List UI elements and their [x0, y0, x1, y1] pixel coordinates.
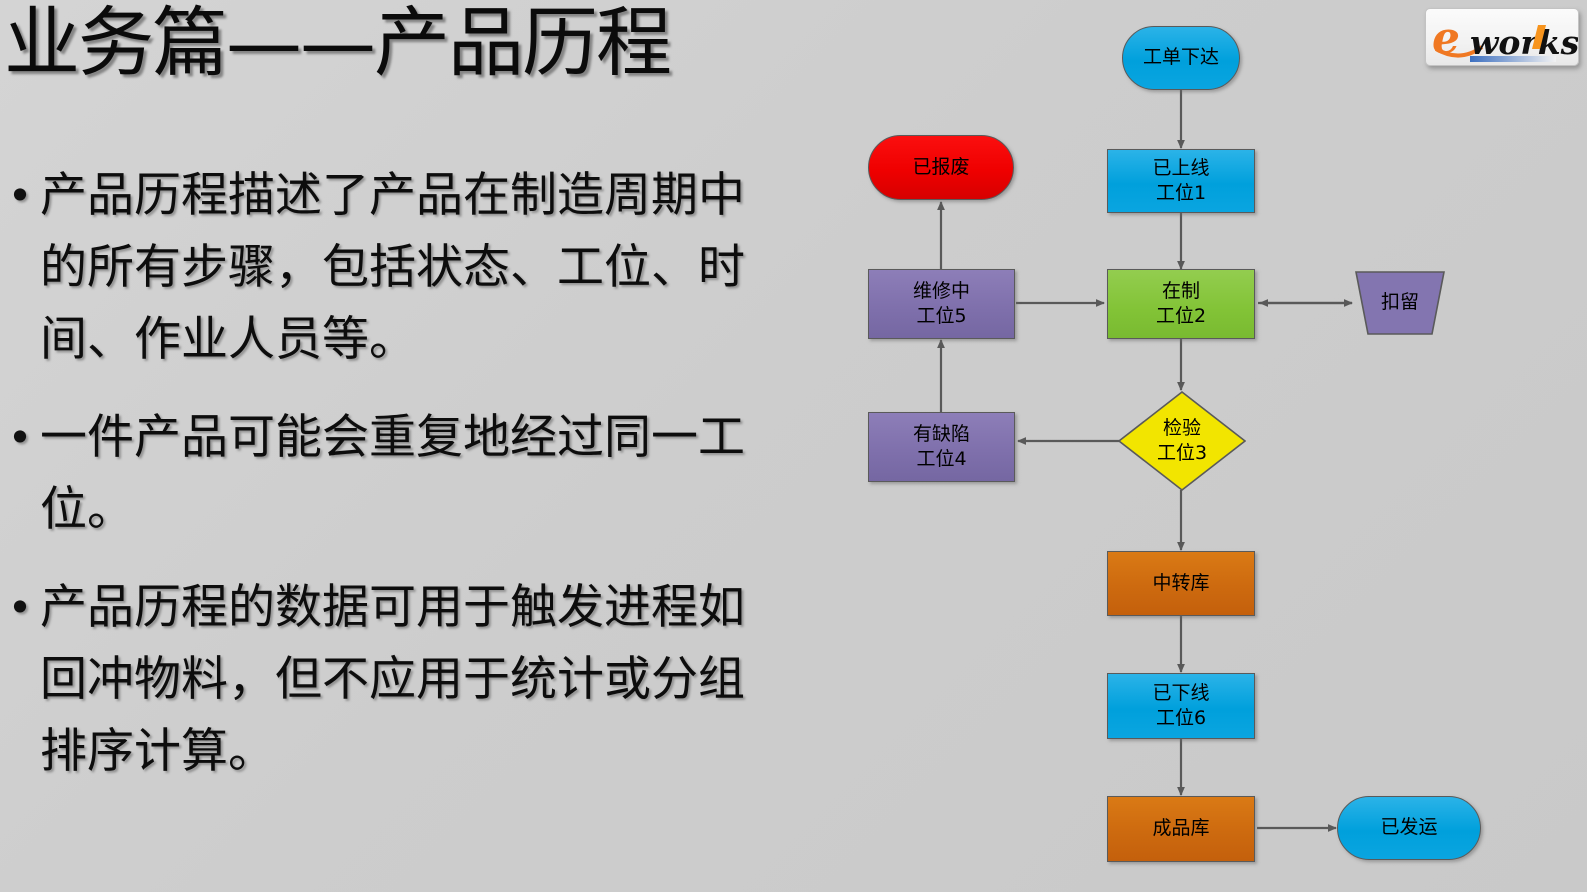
node-label-line2: 工位1	[1156, 181, 1206, 206]
eworks-logo-icon: e works	[1426, 9, 1578, 65]
node-label-line2: 工位4	[916, 447, 966, 472]
node-offline-station6[interactable]: 已下线 工位6	[1107, 673, 1255, 739]
node-repairing-station5[interactable]: 维修中 工位5	[868, 269, 1015, 339]
eworks-logo: e works	[1425, 8, 1579, 66]
node-label-line1: 维修中	[913, 279, 970, 304]
bullet-point-icon: •	[0, 572, 40, 644]
node-hold[interactable]: 扣留	[1352, 270, 1448, 336]
node-online-station1[interactable]: 已上线 工位1	[1107, 149, 1255, 213]
node-label-line1: 已发运	[1380, 815, 1437, 840]
node-label-line1: 成品库	[1152, 816, 1209, 841]
node-label-line1: 有缺陷	[913, 422, 970, 447]
node-work-order-release[interactable]: 工单下达	[1122, 26, 1240, 90]
list-item: • 产品历程的数据可用于触发进程如回冲物料，但不应用于统计或分组排序计算。	[0, 572, 800, 788]
node-inspection-station3[interactable]: 检验 工位3	[1118, 391, 1246, 491]
node-transit-warehouse[interactable]: 中转库	[1107, 551, 1255, 616]
node-label-line2: 工位6	[1156, 706, 1206, 731]
node-shipped[interactable]: 已发运	[1337, 796, 1481, 860]
list-item: • 一件产品可能会重复地经过同一工位。	[0, 402, 800, 546]
node-label-line2: 工位3	[1157, 441, 1207, 466]
node-label-line1: 已报废	[912, 155, 969, 180]
bullet-text: 产品历程描述了产品在制造周期中的所有步骤，包括状态、工位、时间、作业人员等。	[40, 160, 800, 376]
page-title: 业务篇——产品历程	[4, 2, 794, 84]
bullet-text: 产品历程的数据可用于触发进程如回冲物料，但不应用于统计或分组排序计算。	[40, 572, 800, 788]
node-defective-station4[interactable]: 有缺陷 工位4	[868, 412, 1015, 482]
node-finished-warehouse[interactable]: 成品库	[1107, 796, 1255, 862]
node-label-line1: 已下线	[1152, 681, 1209, 706]
node-scrapped[interactable]: 已报废	[868, 135, 1014, 200]
bullet-point-icon: •	[0, 160, 40, 232]
logo-bar-icon	[1470, 56, 1556, 62]
node-in-process-station2[interactable]: 在制 工位2	[1107, 269, 1255, 339]
node-label-line1: 检验	[1163, 416, 1201, 441]
list-item: • 产品历程描述了产品在制造周期中的所有步骤，包括状态、工位、时间、作业人员等。	[0, 160, 800, 376]
node-label-line1: 中转库	[1152, 571, 1209, 596]
bullet-text: 一件产品可能会重复地经过同一工位。	[40, 402, 800, 546]
bullet-point-icon: •	[0, 402, 40, 474]
node-label-line1: 在制	[1162, 279, 1200, 304]
node-label-line1: 扣留	[1381, 290, 1419, 315]
node-label-line1: 工单下达	[1143, 45, 1219, 70]
node-label-line2: 工位2	[1156, 304, 1206, 329]
bullet-list: • 产品历程描述了产品在制造周期中的所有步骤，包括状态、工位、时间、作业人员等。…	[0, 160, 800, 814]
node-label-line2: 工位5	[916, 304, 966, 329]
node-label-line1: 已上线	[1152, 156, 1209, 181]
